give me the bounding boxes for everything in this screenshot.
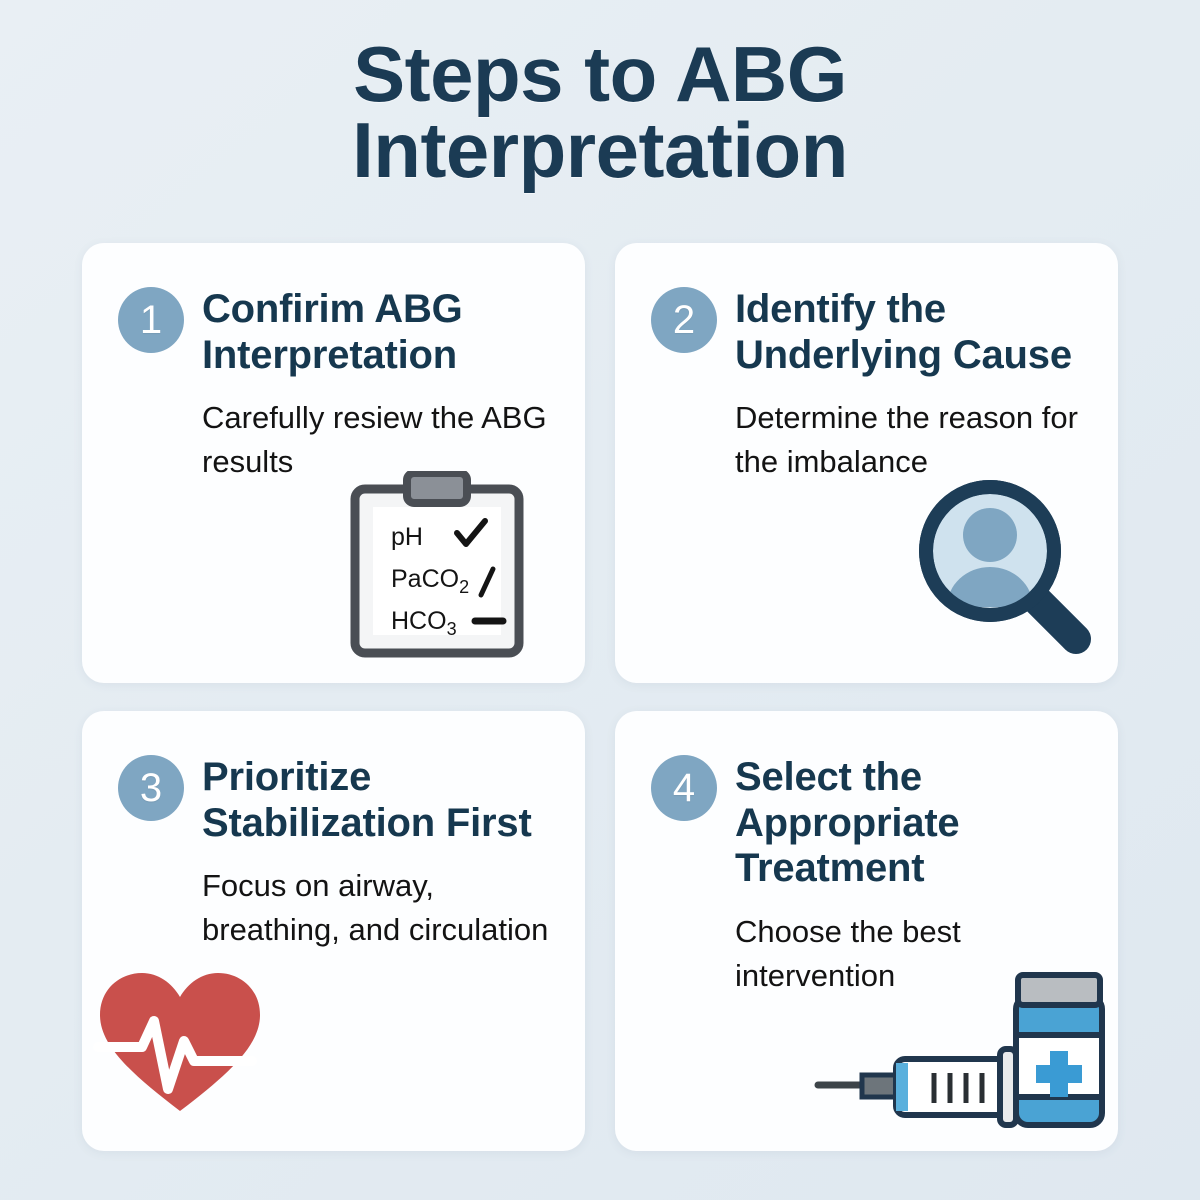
step-card-4-head: 4 Select the Appropriate Treatment (615, 711, 1118, 892)
step-card-1[interactable]: 1 Confirim ABG Interpretation Carefully … (82, 243, 585, 683)
clipboard-icon: pH PaCO2 HCO3 (347, 471, 527, 661)
step-card-2[interactable]: 2 Identify the Underlying Cause Determin… (615, 243, 1118, 683)
infographic-page: Steps to ABG Interpretation 1 Confirim A… (0, 0, 1200, 1200)
step-heading-1: Confirim ABG Interpretation (202, 285, 549, 378)
step-number-badge-4: 4 (651, 755, 717, 821)
step-body-3: Focus on airway, breathing, and circulat… (82, 846, 585, 952)
step-card-2-head: 2 Identify the Underlying Cause (615, 243, 1118, 378)
step-card-4[interactable]: 4 Select the Appropriate Treatment Choos… (615, 711, 1118, 1151)
step-heading-3: Prioritize Stabilization First (202, 753, 549, 846)
page-title: Steps to ABG Interpretation (210, 36, 990, 189)
step-number-badge-3: 3 (118, 755, 184, 821)
step-card-1-head: 1 Confirim ABG Interpretation (82, 243, 585, 378)
step-heading-2: Identify the Underlying Cause (735, 285, 1082, 378)
svg-text:pH: pH (391, 523, 423, 551)
step-number-badge-2: 2 (651, 287, 717, 353)
step-body-1: Carefully resiew the ABG results (82, 378, 585, 484)
steps-grid: 1 Confirim ABG Interpretation Carefully … (82, 243, 1118, 1151)
magnifier-person-icon (910, 471, 1100, 661)
step-heading-4: Select the Appropriate Treatment (735, 753, 1082, 892)
svg-text:PaCO2: PaCO2 (391, 565, 469, 597)
step-card-3[interactable]: 3 Prioritize Stabilization First Focus o… (82, 711, 585, 1151)
heart-pulse-icon (90, 961, 270, 1121)
step-number-badge-1: 1 (118, 287, 184, 353)
step-body-4: Choose the best intervention (615, 892, 1118, 998)
step-card-3-head: 3 Prioritize Stabilization First (82, 711, 585, 846)
title-block: Steps to ABG Interpretation (0, 0, 1200, 189)
step-body-2: Determine the reason for the imbalance (615, 378, 1118, 484)
